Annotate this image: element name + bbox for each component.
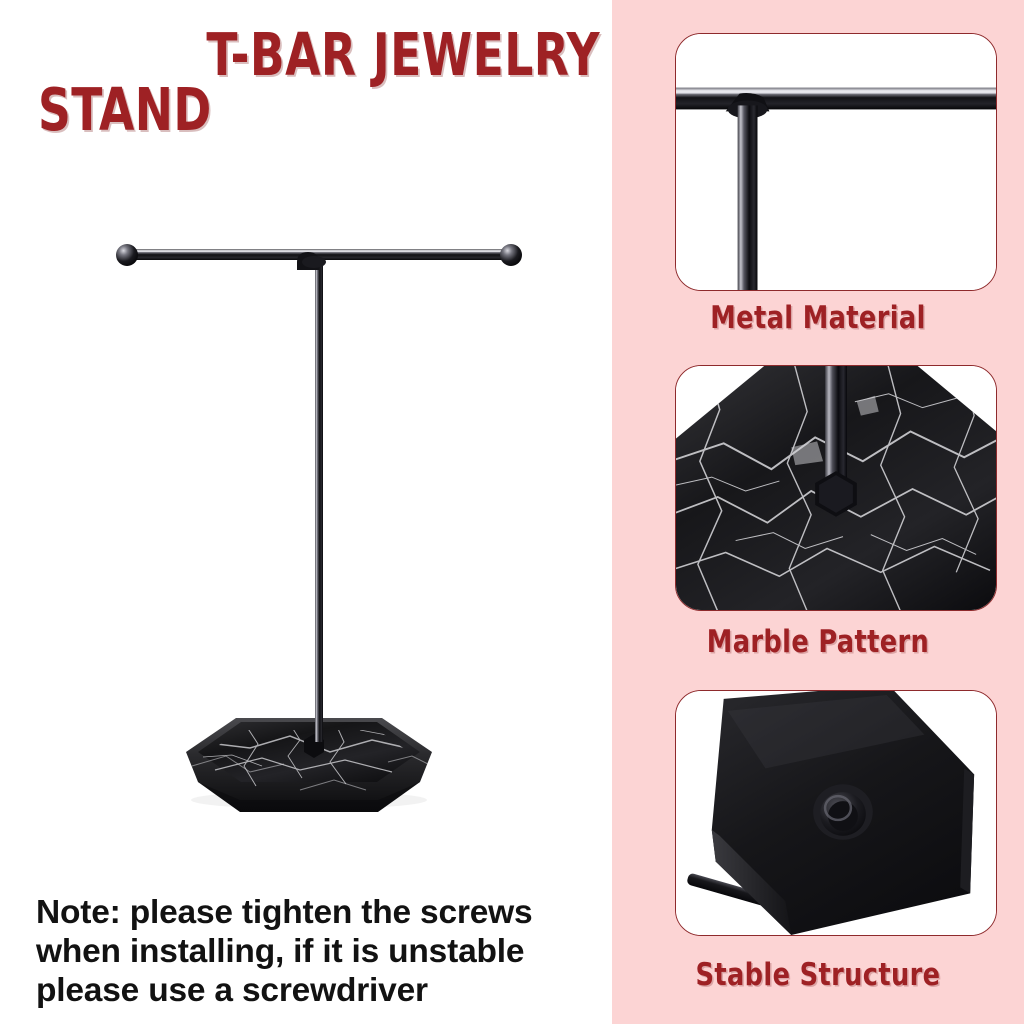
stable-structure-thumbnail-image (676, 691, 996, 935)
feature-label-stable-structure: Stable Structure (628, 957, 1007, 993)
left-panel: T-BAR JEWELRY STAND (0, 0, 612, 1024)
feature-card-metal-material[interactable] (675, 33, 997, 291)
metal-material-thumbnail-image (676, 34, 996, 290)
infographic-page: T-BAR JEWELRY STAND (0, 0, 1024, 1024)
feature-label-metal-material: Metal Material (628, 300, 1007, 336)
page-title-line-2: STAND (38, 83, 296, 138)
marble-pattern-thumbnail-image (676, 366, 996, 610)
feature-card-marble-pattern[interactable] (675, 365, 997, 611)
feature-label-marble-pattern: Marble Pattern (628, 624, 1007, 660)
feature-card-stable-structure[interactable] (675, 690, 997, 936)
page-title: T-BAR JEWELRY STAND (0, 28, 600, 138)
note-text: Note: please tighten the screws when ins… (36, 893, 588, 1011)
right-panel: Metal Material (612, 0, 1024, 1024)
